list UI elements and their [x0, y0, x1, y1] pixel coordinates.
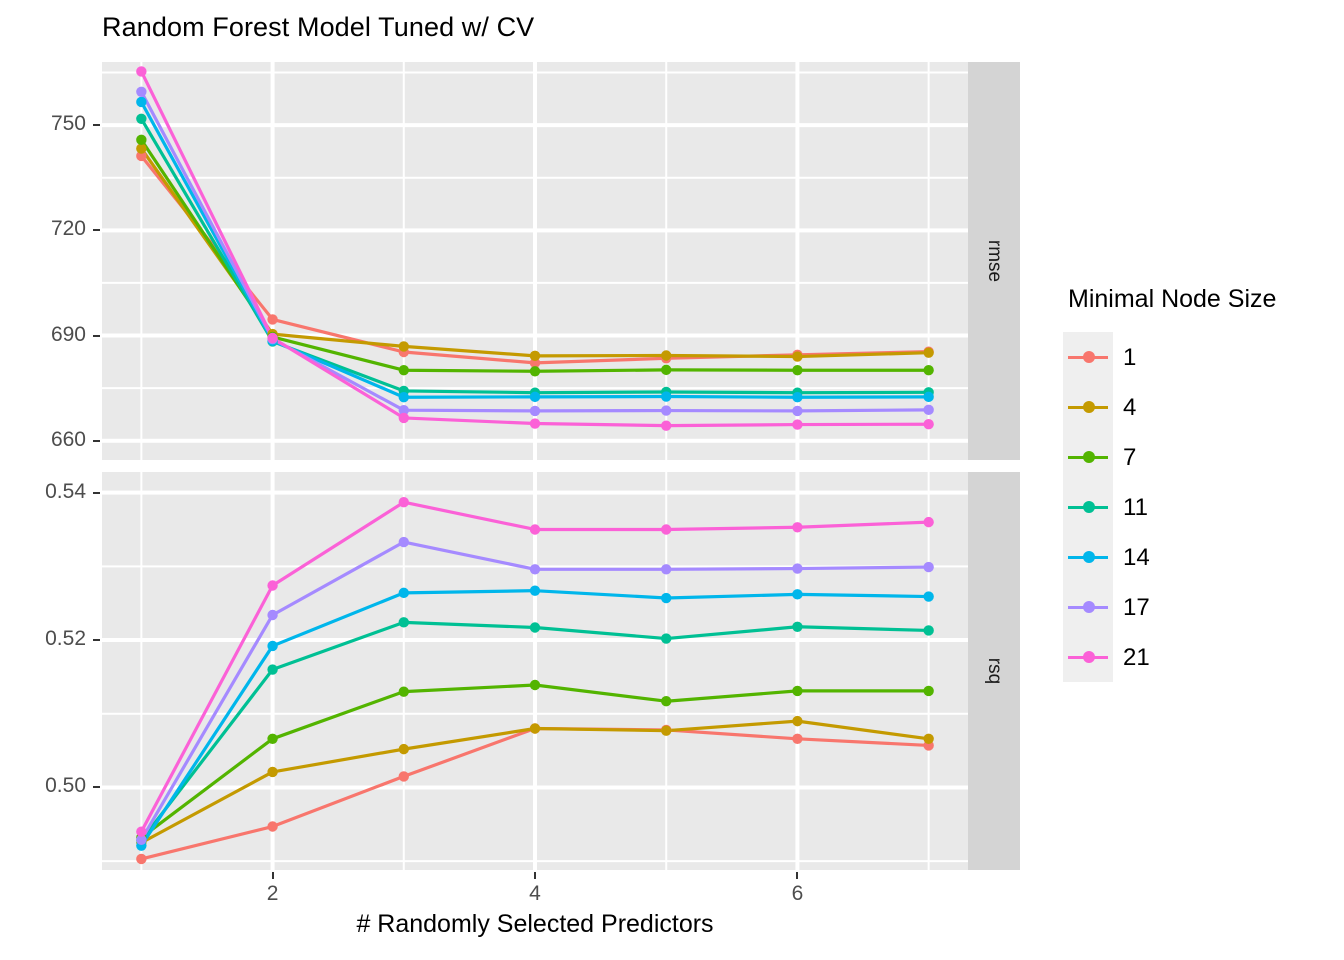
legend-item-label: 17	[1123, 594, 1150, 622]
data-point	[399, 771, 409, 781]
data-point	[136, 135, 146, 145]
facet-strip-label-rsq: rsq	[983, 658, 1005, 684]
data-point	[792, 365, 802, 375]
data-point	[136, 854, 146, 864]
legend-item-label: 21	[1123, 644, 1150, 672]
data-point	[530, 366, 540, 376]
data-point	[267, 610, 277, 620]
y-axis-tick-label: 660	[0, 428, 86, 452]
data-point	[530, 351, 540, 361]
page-title: Random Forest Model Tuned w/ CV	[102, 12, 534, 43]
data-point	[792, 419, 802, 429]
data-point	[661, 420, 671, 430]
legend-item-21[interactable]: 21	[1063, 632, 1113, 682]
data-point	[399, 392, 409, 402]
data-point	[923, 686, 933, 696]
y-axis-tick-mark	[93, 639, 100, 641]
data-point	[661, 726, 671, 736]
data-point	[267, 333, 277, 343]
data-point	[530, 406, 540, 416]
data-point	[136, 87, 146, 97]
data-point	[661, 391, 671, 401]
legend-point-icon	[1083, 351, 1095, 363]
data-point	[399, 617, 409, 627]
legend-key-swatch	[1063, 632, 1113, 682]
data-point	[923, 392, 933, 402]
data-point	[792, 522, 802, 532]
x-axis-tick-label: 6	[792, 882, 804, 906]
y-axis-tick-label: 0.50	[0, 774, 86, 798]
x-axis-tick-mark	[796, 872, 798, 879]
data-point	[136, 826, 146, 836]
legend-point-icon	[1083, 651, 1095, 663]
data-point	[530, 392, 540, 402]
data-point	[923, 734, 933, 744]
data-point	[267, 580, 277, 590]
data-point	[530, 723, 540, 733]
data-point	[267, 314, 277, 324]
legend-point-icon	[1083, 601, 1095, 613]
legend-item-label: 11	[1123, 494, 1148, 522]
legend-point-icon	[1083, 551, 1095, 563]
data-point	[267, 641, 277, 651]
y-axis-tick-mark	[93, 786, 100, 788]
data-point	[530, 524, 540, 534]
y-axis-tick-label: 720	[0, 217, 86, 241]
facet-strip-label-rmse: rmse	[983, 240, 1005, 282]
y-axis-tick-label: 690	[0, 323, 86, 347]
legend-item-14[interactable]: 14	[1063, 532, 1113, 582]
x-axis-tick-label: 2	[267, 882, 279, 906]
data-point	[923, 591, 933, 601]
legend-key-list: 14711141721	[1063, 332, 1113, 682]
data-point	[399, 588, 409, 598]
data-point	[399, 413, 409, 423]
y-axis-tick-mark	[93, 492, 100, 494]
data-point	[399, 686, 409, 696]
data-point	[661, 593, 671, 603]
legend-item-label: 7	[1123, 444, 1136, 472]
facet-strip-rsq: rsq	[968, 472, 1020, 870]
data-point	[399, 365, 409, 375]
data-point	[399, 744, 409, 754]
data-point	[792, 734, 802, 744]
y-axis-tick-label: 0.52	[0, 627, 86, 651]
legend-key-swatch	[1063, 432, 1113, 482]
y-axis-tick-label: 750	[0, 112, 86, 136]
data-point	[923, 348, 933, 358]
facet-panel-rsq	[102, 472, 968, 870]
y-axis-tick-label: 0.54	[0, 480, 86, 504]
data-point	[792, 589, 802, 599]
plot-area-rsq	[102, 472, 968, 870]
legend-item-4[interactable]: 4	[1063, 382, 1113, 432]
legend-item-label: 1	[1123, 344, 1136, 372]
legend-key-swatch	[1063, 532, 1113, 582]
data-point	[661, 524, 671, 534]
y-axis-tick-mark	[93, 335, 100, 337]
data-point	[792, 622, 802, 632]
data-point	[923, 419, 933, 429]
data-point	[399, 497, 409, 507]
x-axis-tick-mark	[534, 872, 536, 879]
x-axis-title: # Randomly Selected Predictors	[102, 910, 968, 939]
legend-item-label: 14	[1123, 544, 1150, 572]
plot-area-rmse	[102, 62, 968, 460]
data-point	[792, 686, 802, 696]
legend-item-label: 4	[1123, 394, 1136, 422]
data-point	[136, 97, 146, 107]
data-point	[792, 563, 802, 573]
data-point	[923, 365, 933, 375]
data-point	[923, 625, 933, 635]
data-point	[923, 517, 933, 527]
data-point	[530, 418, 540, 428]
legend-point-icon	[1083, 451, 1095, 463]
data-point	[530, 564, 540, 574]
data-point	[661, 564, 671, 574]
legend-key-swatch	[1063, 582, 1113, 632]
data-point	[792, 392, 802, 402]
y-axis-tick-mark	[93, 229, 100, 231]
data-point	[792, 406, 802, 416]
legend-item-1[interactable]: 1	[1063, 332, 1113, 382]
legend-point-icon	[1083, 401, 1095, 413]
chart-root: Random Forest Model Tuned w/ CV rmse rsq…	[0, 0, 1344, 960]
data-point	[661, 365, 671, 375]
data-point	[661, 633, 671, 643]
legend-item-7[interactable]: 7	[1063, 432, 1113, 482]
y-axis-tick-mark	[93, 124, 100, 126]
data-point	[267, 821, 277, 831]
data-point	[136, 114, 146, 124]
data-point	[136, 66, 146, 76]
data-point	[530, 622, 540, 632]
data-point	[267, 734, 277, 744]
legend-key-swatch	[1063, 332, 1113, 382]
data-point	[530, 680, 540, 690]
data-point	[792, 351, 802, 361]
facet-panel-rmse	[102, 62, 968, 460]
legend-key-swatch	[1063, 382, 1113, 432]
legend-title: Minimal Node Size	[1068, 285, 1276, 314]
facet-strip-rmse: rmse	[968, 62, 1020, 460]
data-point	[661, 405, 671, 415]
data-point	[923, 405, 933, 415]
data-point	[530, 585, 540, 595]
x-axis-tick-label: 4	[529, 882, 541, 906]
x-axis-tick-mark	[272, 872, 274, 879]
legend-item-17[interactable]: 17	[1063, 582, 1113, 632]
data-point	[267, 664, 277, 674]
y-axis-tick-mark	[93, 440, 100, 442]
data-point	[399, 341, 409, 351]
data-point	[399, 537, 409, 547]
legend-key-swatch	[1063, 482, 1113, 532]
data-point	[661, 696, 671, 706]
data-point	[792, 716, 802, 726]
legend-item-11[interactable]: 11	[1063, 482, 1113, 532]
data-point	[267, 767, 277, 777]
data-point	[923, 562, 933, 572]
data-point	[661, 350, 671, 360]
legend-point-icon	[1083, 501, 1095, 513]
